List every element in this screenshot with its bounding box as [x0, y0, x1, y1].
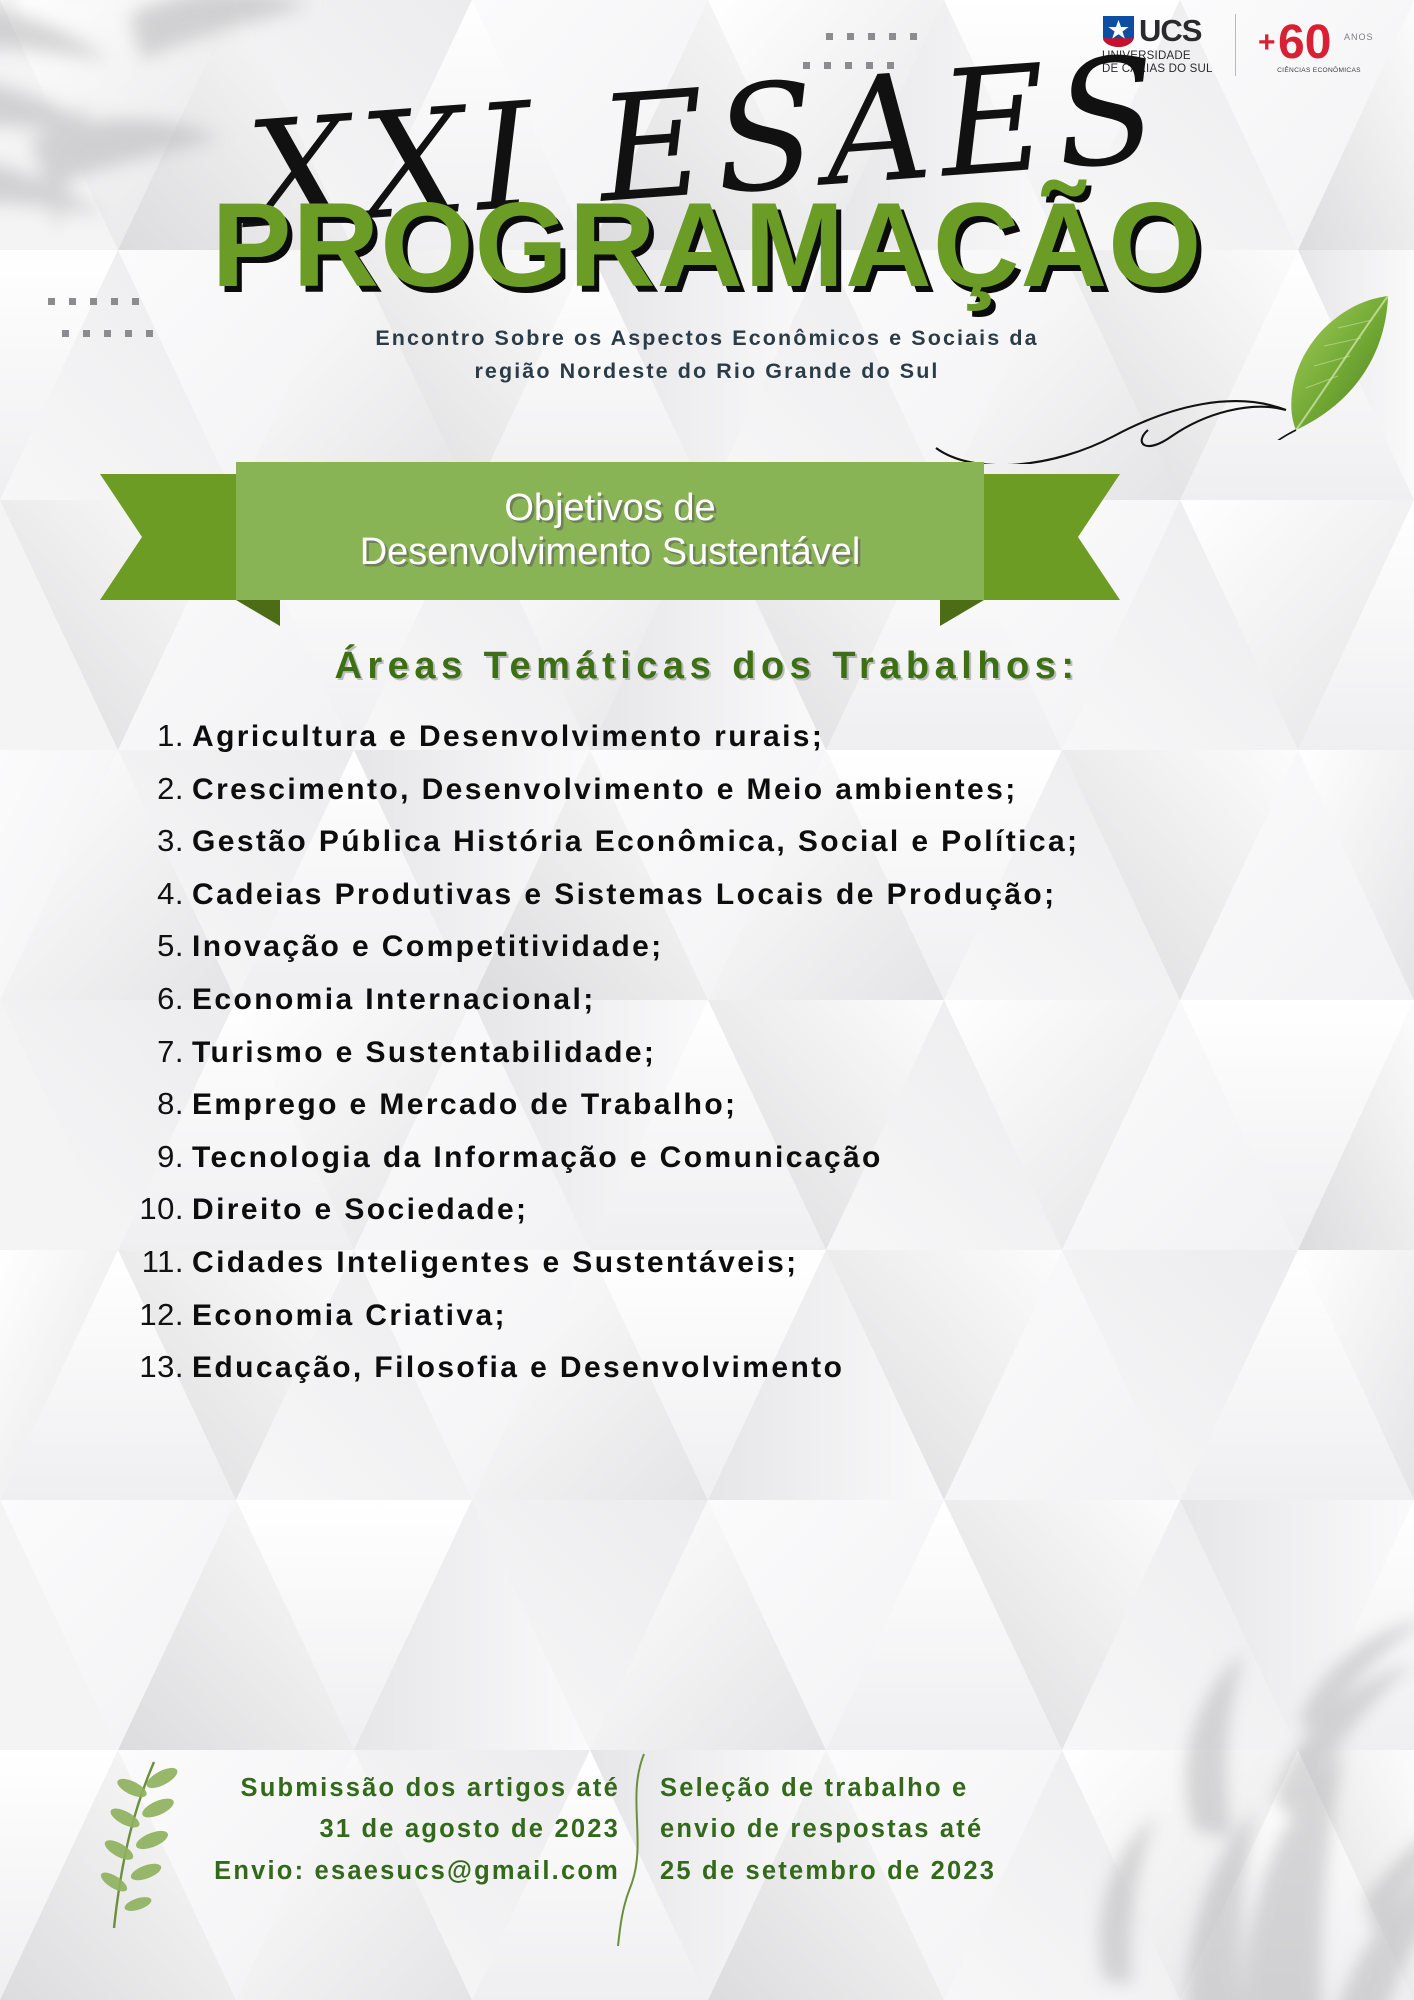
list-item: 6. Economia Internacional;	[112, 979, 1302, 1022]
footer-submission-line1: Submissão dos artigos até	[100, 1768, 620, 1809]
list-item-label: Inovação e Competitividade;	[184, 926, 664, 969]
list-item-number: 12.	[112, 1297, 184, 1333]
list-item: 13. Educação, Filosofia e Desenvolviment…	[112, 1347, 1302, 1390]
list-item: 8. Emprego e Mercado de Trabalho;	[112, 1084, 1302, 1127]
topics-list: 1. Agricultura e Desenvolvimento rurais;…	[112, 716, 1302, 1400]
list-item-number: 10.	[112, 1191, 184, 1227]
footer-selection-block: Seleção de trabalho e envio de respostas…	[660, 1768, 1180, 1892]
footer-selection-line2: envio de respostas até	[660, 1809, 1180, 1850]
ribbon-band: Objetivos de Desenvolvimento Sustentável	[236, 462, 984, 600]
footer: Submissão dos artigos até 31 de agosto d…	[0, 1768, 1414, 1928]
list-item: 7. Turismo e Sustentabilidade;	[112, 1032, 1302, 1075]
list-item: 4. Cadeias Produtivas e Sistemas Locais …	[112, 874, 1302, 917]
list-item-label: Tecnologia da Informação e Comunicação	[184, 1137, 883, 1180]
list-item: 10. Direito e Sociedade;	[112, 1189, 1302, 1232]
list-item-label: Cidades Inteligentes e Sustentáveis;	[184, 1242, 799, 1285]
green-leaf-icon	[1260, 290, 1400, 440]
list-item-number: 8.	[112, 1086, 184, 1122]
list-item-number: 5.	[112, 928, 184, 964]
list-item-number: 2.	[112, 771, 184, 807]
list-item: 9. Tecnologia da Informação e Comunicaçã…	[112, 1137, 1302, 1180]
list-item-label: Economia Criativa;	[184, 1295, 507, 1338]
footer-selection-line3: 25 de setembro de 2023	[660, 1851, 1180, 1892]
page-title: PROGRAMAÇÃO	[0, 185, 1414, 305]
list-item-label: Economia Internacional;	[184, 979, 596, 1022]
event-subtitle-line1: Encontro Sobre os Aspectos Econômicos e …	[0, 322, 1414, 355]
ribbon-line2: Desenvolvimento Sustentável	[360, 531, 861, 575]
list-item-label: Gestão Pública História Econômica, Socia…	[184, 821, 1079, 864]
list-item-number: 6.	[112, 981, 184, 1017]
list-item: 5. Inovação e Competitividade;	[112, 926, 1302, 969]
event-subtitle: Encontro Sobre os Aspectos Econômicos e …	[0, 322, 1414, 389]
list-item-number: 7.	[112, 1034, 184, 1070]
list-item: 1. Agricultura e Desenvolvimento rurais;	[112, 716, 1302, 759]
footer-submission-email[interactable]: Envio: esaesucs@gmail.com	[100, 1851, 620, 1892]
list-item-number: 11.	[112, 1244, 184, 1280]
section-heading-areas: Áreas Temáticas dos Trabalhos:	[0, 645, 1414, 688]
footer-divider-line	[600, 1752, 660, 1948]
list-item-label: Turismo e Sustentabilidade;	[184, 1032, 656, 1075]
swirl-line-icon	[934, 384, 1294, 464]
list-item: 3. Gestão Pública História Econômica, So…	[112, 821, 1302, 864]
poster-root: UCS UNIVERSIDADE DE CAXIAS DO SUL + 60 A…	[0, 0, 1414, 2000]
list-item: 2. Crescimento, Desenvolvimento e Meio a…	[112, 769, 1302, 812]
list-item-number: 3.	[112, 823, 184, 859]
footer-submission-line2: 31 de agosto de 2023	[100, 1809, 620, 1850]
list-item: 12. Economia Criativa;	[112, 1295, 1302, 1338]
footer-selection-line1: Seleção de trabalho e	[660, 1768, 1180, 1809]
list-item-number: 9.	[112, 1139, 184, 1175]
list-item-label: Crescimento, Desenvolvimento e Meio ambi…	[184, 769, 1018, 812]
list-item-label: Educação, Filosofia e Desenvolvimento	[184, 1347, 844, 1390]
list-item: 11. Cidades Inteligentes e Sustentáveis;	[112, 1242, 1302, 1285]
list-item-number: 13.	[112, 1349, 184, 1385]
ribbon-banner: Objetivos de Desenvolvimento Sustentável	[100, 462, 1120, 612]
list-item-label: Agricultura e Desenvolvimento rurais;	[184, 716, 824, 759]
list-item-number: 4.	[112, 876, 184, 912]
ribbon-line1: Objetivos de	[360, 487, 861, 531]
dot-decoration-top-1	[826, 33, 917, 40]
list-item-label: Direito e Sociedade;	[184, 1189, 528, 1232]
list-item-number: 1.	[112, 718, 184, 754]
list-item-label: Emprego e Mercado de Trabalho;	[184, 1084, 737, 1127]
list-item-label: Cadeias Produtivas e Sistemas Locais de …	[184, 874, 1057, 917]
footer-submission-block: Submissão dos artigos até 31 de agosto d…	[100, 1768, 620, 1892]
